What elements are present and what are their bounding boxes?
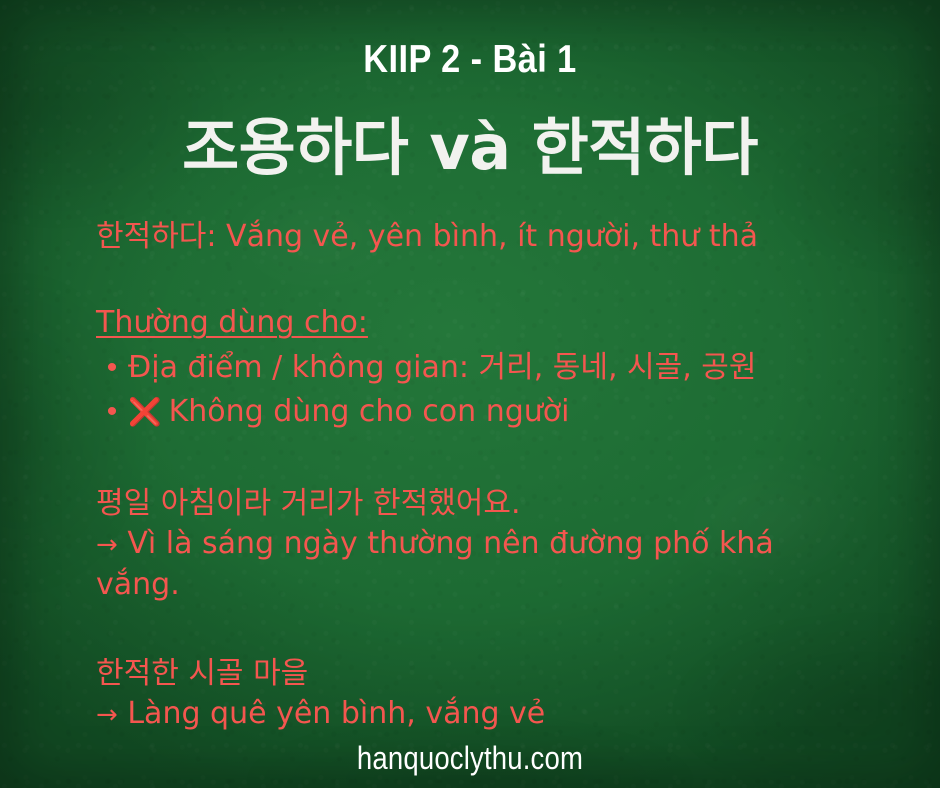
- arrow-right-icon: →: [96, 530, 118, 560]
- usage-bullet-list: • Địa điểm / không gian: 거리, 동네, 시골, 공원 …: [96, 353, 757, 441]
- bullet-text: Không dùng cho con người: [169, 394, 570, 429]
- page-title: 조용하다 và 한적하다: [0, 112, 940, 183]
- example-korean: 평일 아침이라 거리가 한적했어요.: [96, 484, 866, 524]
- example-korean: 한적한 시골 마을: [96, 654, 545, 694]
- lesson-kicker: KIIP 2 - Bài 1: [56, 40, 883, 79]
- example-vietnamese: Vì là sáng ngày thường nên đường phố khá…: [96, 526, 774, 602]
- bullet-dot-icon: •: [96, 397, 128, 427]
- slide-content: KIIP 2 - Bài 1 조용하다 và 한적하다 한적하다: Vắng v…: [0, 0, 940, 788]
- example-block-1: 평일 아침이라 거리가 한적했어요. → Vì là sáng ngày thư…: [96, 484, 866, 605]
- example-block-2: 한적한 시골 마을 → Làng quê yên bình, vắng vẻ: [96, 654, 545, 735]
- example-translation-row: → Làng quê yên bình, vắng vẻ: [96, 694, 545, 735]
- list-item: • ❌Không dùng cho con người: [96, 397, 757, 441]
- website-footer: hanquoclythu.com: [66, 742, 874, 774]
- usage-heading: Thường dùng cho:: [96, 308, 368, 338]
- definition-line: 한적하다: Vắng vẻ, yên bình, ít người, thư t…: [96, 222, 758, 252]
- bullet-dot-icon: •: [96, 353, 128, 383]
- cross-mark-icon: ❌: [128, 399, 162, 426]
- example-vietnamese: Làng quê yên bình, vắng vẻ: [127, 696, 545, 731]
- bullet-text: Địa điểm / không gian: 거리, 동네, 시골, 공원: [128, 353, 757, 383]
- bullet-text-row: ❌Không dùng cho con người: [128, 397, 569, 427]
- lesson-slide: KIIP 2 - Bài 1 조용하다 và 한적하다 한적하다: Vắng v…: [0, 0, 940, 788]
- example-translation-row: → Vì là sáng ngày thường nên đường phố k…: [96, 524, 866, 605]
- list-item: • Địa điểm / không gian: 거리, 동네, 시골, 공원: [96, 353, 757, 397]
- arrow-right-icon: →: [96, 700, 118, 730]
